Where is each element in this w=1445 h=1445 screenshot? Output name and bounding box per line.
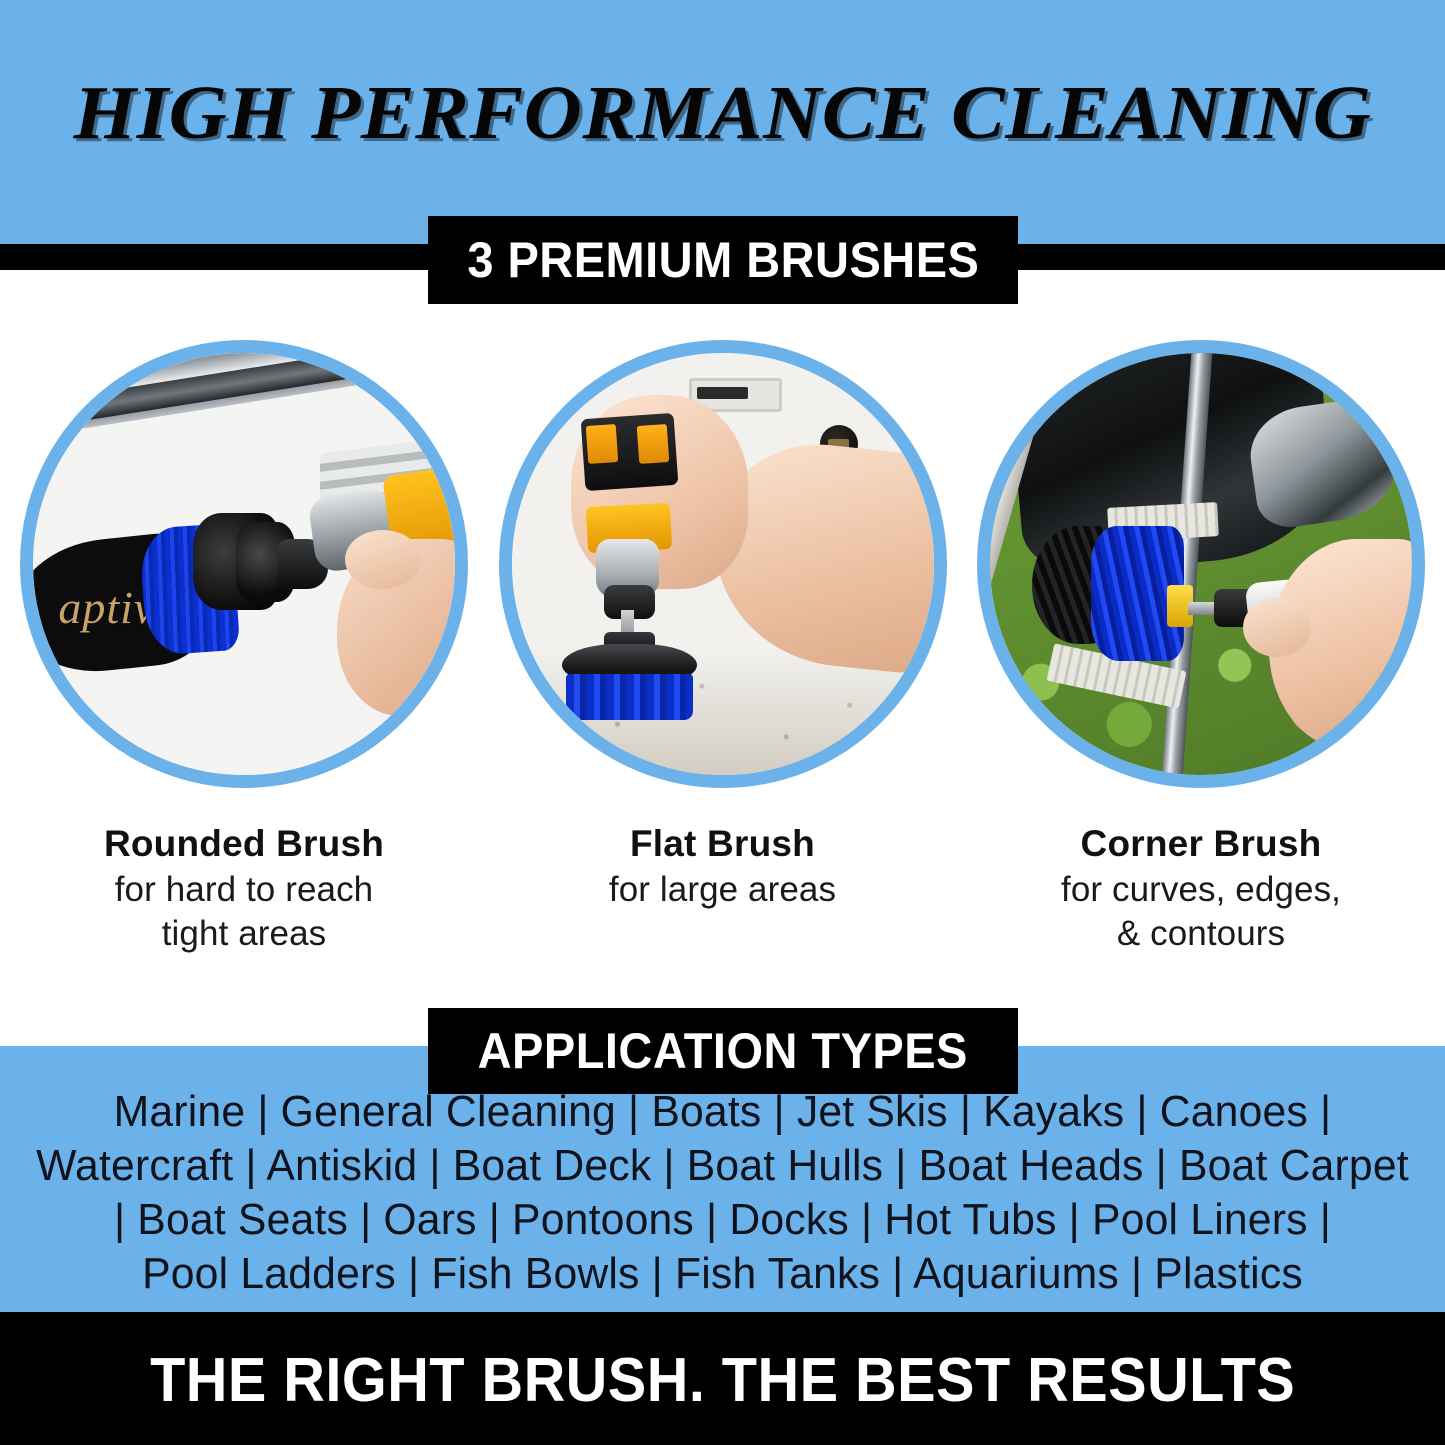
flat-brush-photo [499,340,947,788]
applications-line: Watercraft | Antiskid | Boat Deck | Boat… [22,1139,1424,1193]
footer-band: THE RIGHT BRUSH. THE BEST RESULTS [0,1316,1445,1445]
brush-card-flat: Flat Brush for large areas [497,340,949,980]
scene-rounded-brush: aptiv [33,353,455,775]
scene-corner-brush [990,353,1412,775]
scene-flat-brush [512,353,934,775]
flat-brush-subtitle-line-1: for large areas [609,869,836,910]
corner-brush-caption: Corner Brush for curves, edges, & contou… [1061,822,1341,954]
applications-section-label: APPLICATION TYPES [478,1022,968,1080]
applications-line: Pool Ladders | Fish Bowls | Fish Tanks |… [22,1247,1424,1301]
thumb [1243,598,1311,657]
rounded-brush-subtitle-line-2: tight areas [104,913,384,954]
corner-brush-title: Corner Brush [1061,822,1341,866]
corner-brush-subtitle-line-2: & contours [1061,913,1341,954]
brushes-section-label-box: 3 PREMIUM BRUSHES [428,216,1018,304]
page-title: HIGH PERFORMANCE CLEANING [0,70,1445,157]
rounded-brush-title: Rounded Brush [104,822,384,866]
flat-brush-caption: Flat Brush for large areas [609,822,836,910]
rounded-brush-photo: aptiv [20,340,468,788]
corner-brush-photo [977,340,1425,788]
footer-tagline: THE RIGHT BRUSH. THE BEST RESULTS [150,1345,1295,1416]
corner-brush-photo-inner [990,353,1412,775]
brush-cards-row: aptiv Rounded Brush for hard to reach [0,340,1445,980]
applications-section-label-box: APPLICATION TYPES [428,1008,1018,1094]
flat-brush-title: Flat Brush [609,822,836,866]
blue-bristles [566,674,693,720]
panel-slot [697,387,748,400]
brush-card-corner: Corner Brush for curves, edges, & contou… [975,340,1427,980]
rounded-brush-photo-inner: aptiv [33,353,455,775]
applications-line: | Boat Seats | Oars | Pontoons | Docks |… [22,1193,1424,1247]
rounded-brush-caption: Rounded Brush for hard to reach tight ar… [104,822,384,954]
applications-list: Marine | General Cleaning | Boats | Jet … [0,1085,1445,1301]
brushes-section-label: 3 PREMIUM BRUSHES [467,231,979,289]
decal-text: aptiv [58,581,155,634]
drill-accent-right [637,424,669,464]
rounded-brush-subtitle-line-1: for hard to reach [104,869,384,910]
flat-brush-photo-inner [512,353,934,775]
brush-card-rounded: aptiv Rounded Brush for hard to reach [18,340,470,980]
infographic-page: HIGH PERFORMANCE CLEANING 3 PREMIUM BRUS… [0,0,1445,1445]
corner-brush-subtitle-line-1: for curves, edges, [1061,869,1341,910]
drill-accent-left [586,424,618,464]
applications-line: Marine | General Cleaning | Boats | Jet … [22,1085,1424,1139]
